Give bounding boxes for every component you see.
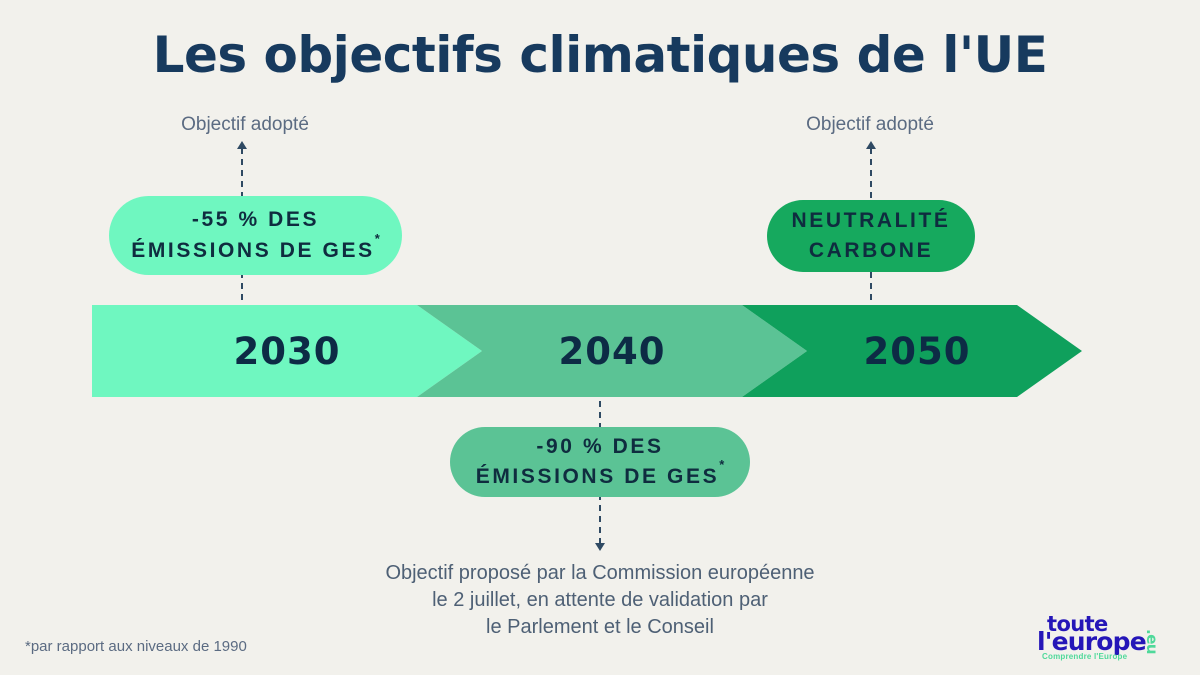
badge-2040-target: -90 % DES ÉMISSIONS DE GES* [450, 427, 750, 497]
badge-2040-line2: ÉMISSIONS DE GES* [476, 462, 725, 492]
caption-2040: Objectif proposé par la Commission europ… [300, 560, 900, 642]
footnote-marker: * [375, 231, 380, 246]
badge-2030-line1: -55 % DES [192, 205, 319, 235]
timeline-label-2050: 2050 [864, 330, 971, 373]
dashed-line [599, 494, 601, 544]
caption-line-3: le Parlement et le Conseil [300, 614, 900, 641]
caption-line-2: le 2 juillet, en attente de validation p… [300, 587, 900, 614]
badge-2030-target: -55 % DES ÉMISSIONS DE GES* [109, 196, 402, 275]
timeline-arrow: 2030 2040 2050 [92, 305, 1082, 397]
logo-tld: .eu [1143, 629, 1161, 654]
footnote-text: *par rapport aux niveaux de 1990 [25, 638, 247, 655]
badge-2050-line2: CARBONE [809, 236, 933, 266]
caption-line-1: Objectif proposé par la Commission europ… [300, 560, 900, 587]
logo-toute-leurope[interactable]: toute l'europe .eu Comprendre l'Europe [1037, 612, 1187, 664]
logo-tagline: Comprendre l'Europe [1042, 652, 1127, 661]
timeline-label-2030: 2030 [234, 330, 341, 373]
badge-2050-line1: NEUTRALITÉ [792, 206, 951, 236]
annotation-2050-status: Objectif adopté [725, 114, 1015, 136]
badge-2030-line2: ÉMISSIONS DE GES* [131, 236, 380, 266]
timeline-label-2040: 2040 [559, 330, 666, 373]
badge-2050-target: NEUTRALITÉ CARBONE [767, 200, 975, 272]
page-title: Les objectifs climatiques de l'UE [0, 26, 1200, 84]
connector-2040-down-arrow [599, 494, 601, 544]
infographic-canvas: Les objectifs climatiques de l'UE Object… [0, 0, 1200, 675]
annotation-2030-status: Objectif adopté [100, 114, 390, 136]
badge-2040-line1: -90 % DES [536, 432, 663, 462]
arrowhead-down-icon [595, 543, 605, 551]
footnote-marker: * [719, 457, 724, 472]
